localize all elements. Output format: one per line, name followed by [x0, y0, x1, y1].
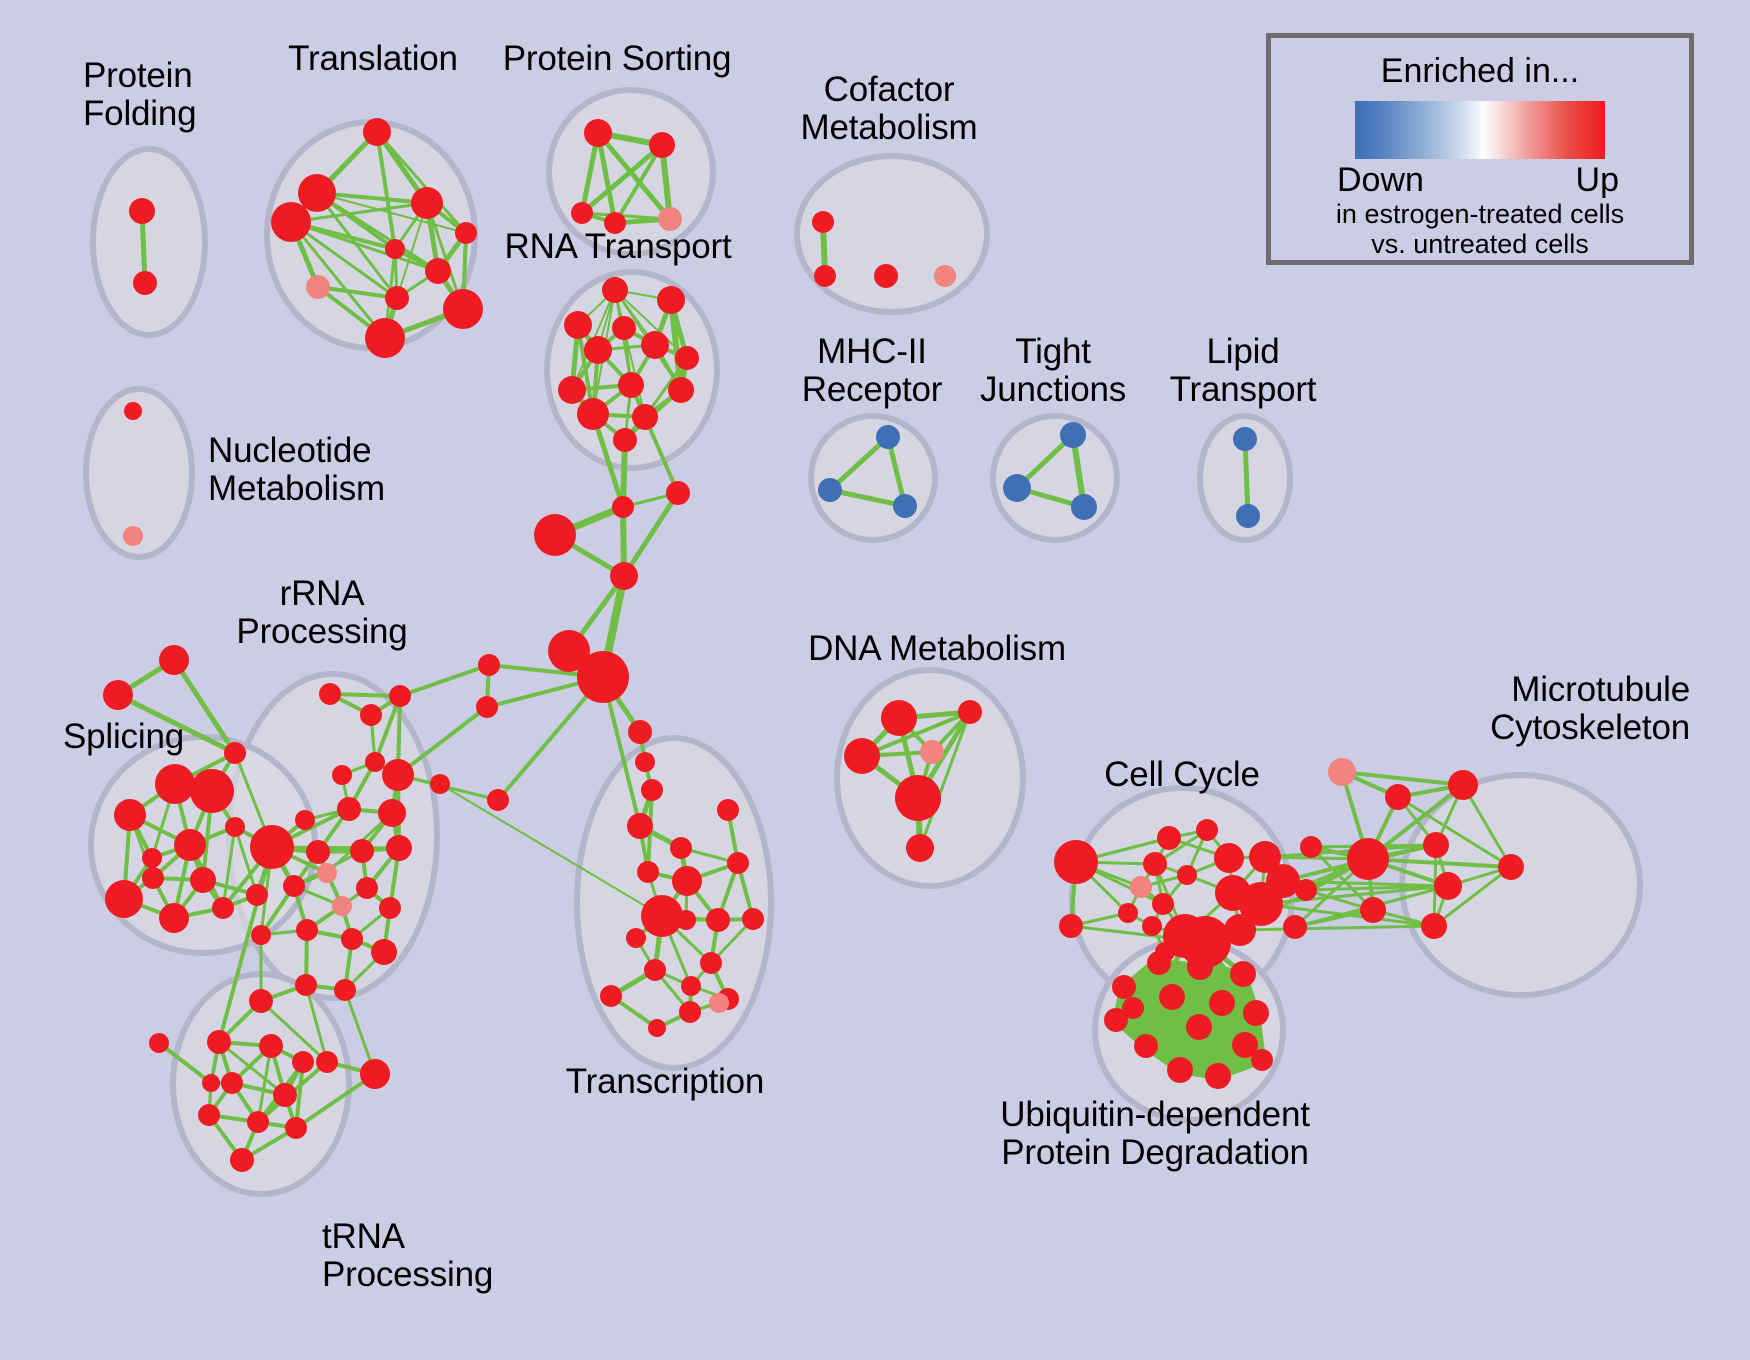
network-node[interactable] [584, 336, 612, 364]
network-node[interactable] [103, 680, 133, 710]
network-node[interactable] [675, 346, 699, 370]
network-node[interactable] [365, 318, 405, 358]
legend-down-label: Down [1337, 161, 1424, 200]
network-node[interactable] [874, 264, 898, 288]
cluster-label-line: Transcription [566, 1063, 764, 1101]
network-node[interactable] [602, 277, 628, 303]
cluster-label-line: Microtubule [1490, 671, 1690, 709]
network-node[interactable] [727, 852, 749, 874]
network-node[interactable] [641, 779, 663, 801]
network-node[interactable] [1243, 1000, 1269, 1026]
network-node[interactable] [259, 1034, 283, 1058]
network-node[interactable] [271, 202, 311, 242]
network-node[interactable] [934, 265, 956, 287]
network-node[interactable] [332, 765, 352, 785]
cluster-label-mhc-ii-receptor: MHC-IIReceptor [802, 333, 942, 409]
network-node[interactable] [224, 742, 246, 764]
network-node[interactable] [371, 939, 397, 965]
network-node[interactable] [649, 132, 675, 158]
network-node[interactable] [296, 919, 318, 941]
network-node[interactable] [1251, 1049, 1273, 1071]
cluster-label-line: Protein Degradation [1000, 1134, 1310, 1172]
enrichment-map-figure: ProteinFoldingTranslationProtein Sorting… [0, 0, 1750, 1360]
network-node[interactable] [1209, 990, 1235, 1016]
network-node[interactable] [1054, 840, 1098, 884]
cluster-label-line: Splicing [63, 718, 184, 756]
network-node[interactable] [124, 402, 142, 420]
cluster-label-dna-metabolism: DNA Metabolism [808, 630, 1066, 668]
network-node[interactable] [1071, 494, 1097, 520]
network-node[interactable] [670, 837, 692, 859]
network-node[interactable] [628, 720, 652, 744]
network-node[interactable] [893, 494, 917, 518]
network-node[interactable] [1112, 975, 1136, 999]
network-node[interactable] [334, 979, 356, 1001]
network-node[interactable] [1143, 852, 1167, 876]
network-node[interactable] [142, 867, 164, 889]
network-node[interactable] [212, 897, 234, 919]
network-node[interactable] [1130, 876, 1152, 898]
network-node[interactable] [1134, 1034, 1158, 1058]
network-node[interactable] [1434, 872, 1462, 900]
network-node[interactable] [350, 839, 374, 863]
network-node[interactable] [149, 1033, 169, 1053]
network-node[interactable] [558, 376, 586, 404]
network-node[interactable] [1421, 913, 1447, 939]
network-node[interactable] [612, 496, 634, 518]
network-node[interactable] [1187, 954, 1213, 980]
cluster-label-line: Ubiquitin-dependent [1000, 1096, 1310, 1134]
network-node[interactable] [564, 311, 592, 339]
network-node[interactable] [1152, 893, 1174, 915]
network-node[interactable] [612, 316, 636, 340]
network-node[interactable] [123, 526, 143, 546]
network-node[interactable] [717, 799, 739, 821]
network-node[interactable] [1159, 984, 1185, 1010]
cluster-label-microtubule-cytoskeleton: MicrotubuleCytoskeleton [1490, 671, 1690, 747]
cluster-label-cofactor-metabolism: CofactorMetabolism [801, 71, 978, 147]
network-node[interactable] [584, 119, 612, 147]
cluster-label-nucleotide-metabolism: NucleotideMetabolism [208, 432, 385, 508]
network-node[interactable] [425, 258, 451, 284]
network-node[interactable] [1230, 961, 1256, 987]
network-node[interactable] [577, 651, 629, 703]
network-node[interactable] [316, 1051, 338, 1073]
network-node[interactable] [958, 700, 982, 724]
network-node[interactable] [1236, 504, 1260, 528]
network-node[interactable] [706, 908, 730, 932]
cluster-label-line: RNA Transport [505, 228, 732, 266]
cluster-label-trna-processing: tRNAProcessing [322, 1218, 493, 1294]
cluster-label-line: Metabolism [801, 109, 978, 147]
network-node[interactable] [142, 848, 162, 868]
network-node[interactable] [198, 1104, 220, 1126]
network-node[interactable] [814, 265, 836, 287]
cluster-label-cell-cycle: Cell Cycle [1104, 756, 1260, 794]
network-node[interactable] [700, 952, 722, 974]
network-node[interactable] [133, 271, 157, 295]
network-node[interactable] [221, 1072, 243, 1094]
network-node[interactable] [920, 740, 944, 764]
network-node[interactable] [1060, 422, 1086, 448]
network-node[interactable] [247, 1111, 269, 1133]
network-node[interactable] [644, 959, 666, 981]
network-node[interactable] [159, 903, 189, 933]
cluster-label-tight-junctions: TightJunctions [980, 333, 1126, 409]
network-node[interactable] [1059, 914, 1083, 938]
network-node[interactable] [455, 222, 477, 244]
network-node[interactable] [249, 989, 273, 1013]
network-node[interactable] [411, 187, 443, 219]
network-node[interactable] [844, 738, 880, 774]
network-node[interactable] [443, 289, 483, 329]
network-node[interactable] [386, 835, 412, 861]
network-node[interactable] [613, 428, 637, 452]
legend-endpoint-labels: Down Up [1335, 161, 1625, 199]
cluster-label-lipid-transport: LipidTransport [1170, 333, 1317, 409]
cluster-label-line: Tight [980, 333, 1126, 371]
network-node[interactable] [679, 1001, 701, 1023]
network-node[interactable] [635, 752, 655, 772]
network-node[interactable] [114, 799, 146, 831]
network-node[interactable] [385, 286, 409, 310]
network-node[interactable] [295, 810, 315, 830]
network-node[interactable] [378, 799, 406, 827]
network-node[interactable] [1122, 997, 1144, 1019]
network-node[interactable] [610, 562, 638, 590]
cluster-label-translation: Translation [288, 40, 458, 78]
network-node[interactable] [657, 286, 685, 314]
network-node[interactable] [190, 867, 216, 893]
network-node[interactable] [306, 840, 330, 864]
legend-subtitle-line-1: in estrogen-treated cells [1271, 199, 1689, 229]
cluster-label-line: DNA Metabolism [808, 630, 1066, 668]
network-node[interactable] [627, 813, 653, 839]
network-node[interactable] [155, 764, 195, 804]
network-node[interactable] [1300, 836, 1322, 858]
network-node[interactable] [202, 1074, 220, 1092]
network-node[interactable] [641, 895, 683, 937]
network-node[interactable] [818, 478, 842, 502]
network-node[interactable] [1147, 951, 1171, 975]
network-node[interactable] [283, 875, 305, 897]
network-node[interactable] [332, 896, 352, 916]
cluster-label-line: Transport [1170, 371, 1317, 409]
network-node[interactable] [337, 797, 361, 821]
network-node[interactable] [1205, 1063, 1231, 1089]
network-node[interactable] [881, 700, 917, 736]
network-node[interactable] [681, 976, 701, 996]
network-node[interactable] [906, 834, 934, 862]
network-node[interactable] [250, 825, 294, 869]
network-node[interactable] [666, 481, 690, 505]
cluster-label-line: MHC-II [802, 333, 942, 371]
network-node[interactable] [190, 769, 234, 813]
network-node[interactable] [600, 985, 622, 1007]
cluster-label-line: Processing [322, 1256, 493, 1294]
network-node[interactable] [672, 866, 702, 896]
network-node[interactable] [1385, 784, 1411, 810]
network-node[interactable] [389, 685, 411, 707]
network-node[interactable] [618, 372, 644, 398]
network-node[interactable] [1003, 474, 1031, 502]
network-node[interactable] [1360, 897, 1386, 923]
network-node[interactable] [159, 645, 189, 675]
network-node[interactable] [319, 683, 341, 705]
network-node[interactable] [317, 863, 337, 883]
network-node[interactable] [709, 993, 729, 1013]
network-node[interactable] [895, 775, 941, 821]
cluster-label-line: Nucleotide [208, 432, 385, 470]
network-node[interactable] [1142, 916, 1162, 936]
cluster-ellipse-mhc-ii-receptor [811, 416, 935, 540]
network-node[interactable] [742, 908, 764, 930]
cluster-label-line: tRNA [322, 1218, 493, 1256]
network-node[interactable] [285, 1117, 307, 1139]
legend-panel: Enriched in... Down Up in estrogen-treat… [1266, 33, 1694, 265]
cluster-label-splicing: Splicing [63, 718, 184, 756]
cluster-label-rrna-processing: rRNAProcessing [236, 575, 407, 651]
network-node[interactable] [251, 925, 271, 945]
cluster-label-protein-sorting: Protein Sorting [503, 40, 732, 78]
network-node[interactable] [105, 880, 143, 918]
cluster-label-line: rRNA [236, 575, 407, 613]
network-node[interactable] [365, 752, 385, 772]
network-node[interactable] [174, 829, 206, 861]
network-node[interactable] [363, 118, 391, 146]
cluster-label-line: Cell Cycle [1104, 756, 1260, 794]
legend-up-label: Up [1576, 161, 1619, 200]
cluster-label-line: Protein Sorting [503, 40, 732, 78]
network-node[interactable] [207, 1030, 231, 1054]
cluster-label-line: Metabolism [208, 470, 385, 508]
network-node[interactable] [626, 928, 646, 948]
network-node[interactable] [306, 275, 330, 299]
network-node[interactable] [382, 759, 414, 791]
network-node[interactable] [641, 331, 669, 359]
cluster-label-line: Lipid [1170, 333, 1317, 371]
network-node[interactable] [1233, 427, 1257, 451]
network-node[interactable] [298, 174, 336, 212]
network-node[interactable] [876, 425, 900, 449]
network-node[interactable] [1186, 1014, 1212, 1040]
network-node[interactable] [246, 884, 268, 906]
network-node[interactable] [129, 198, 155, 224]
network-node[interactable] [341, 928, 363, 950]
network-node[interactable] [1118, 903, 1138, 923]
network-node[interactable] [1167, 1057, 1193, 1083]
network-node[interactable] [356, 877, 378, 899]
network-node[interactable] [273, 1083, 297, 1107]
cluster-label-transcription: Transcription [566, 1063, 764, 1101]
legend-color-gradient-bar [1355, 101, 1605, 159]
network-node[interactable] [1448, 770, 1478, 800]
network-node[interactable] [1295, 879, 1317, 901]
cluster-label-line: Processing [236, 613, 407, 651]
network-node[interactable] [577, 398, 609, 430]
cluster-label-line: Protein [83, 57, 196, 95]
bridge-edge [400, 665, 489, 696]
network-node[interactable] [1196, 819, 1218, 841]
network-node[interactable] [571, 202, 593, 224]
network-node[interactable] [1423, 832, 1449, 858]
cluster-label-line: Junctions [980, 371, 1126, 409]
network-node[interactable] [1214, 843, 1244, 873]
cluster-label-rna-transport: RNA Transport [505, 228, 732, 266]
legend-title: Enriched in... [1271, 52, 1689, 91]
network-node[interactable] [632, 404, 658, 430]
cluster-label-line: Translation [288, 40, 458, 78]
cluster-label-ubiquitin-dependent-protein-degradation: Ubiquitin-dependentProtein Degradation [1000, 1096, 1310, 1172]
network-node[interactable] [379, 897, 401, 919]
network-node[interactable] [487, 789, 509, 811]
network-node[interactable] [1328, 758, 1356, 786]
network-node[interactable] [476, 696, 498, 718]
network-node[interactable] [230, 1148, 254, 1172]
network-node[interactable] [668, 377, 694, 403]
network-node[interactable] [292, 1051, 314, 1073]
cluster-label-line: Folding [83, 95, 196, 133]
cluster-label-line: Cofactor [801, 71, 978, 109]
legend-subtitle-line-2: vs. untreated cells [1271, 229, 1689, 259]
network-node[interactable] [385, 239, 405, 259]
network-node[interactable] [295, 974, 317, 996]
network-node[interactable] [430, 774, 450, 794]
network-node[interactable] [360, 1059, 390, 1089]
network-node[interactable] [1498, 854, 1524, 880]
network-node[interactable] [648, 1019, 666, 1037]
network-node[interactable] [1177, 865, 1197, 885]
network-node[interactable] [1163, 914, 1207, 958]
cluster-label-line: Cytoskeleton [1490, 709, 1690, 747]
network-node[interactable] [225, 817, 245, 837]
network-node[interactable] [360, 704, 382, 726]
network-node[interactable] [1283, 915, 1307, 939]
cluster-label-protein-folding: ProteinFolding [83, 57, 196, 133]
network-node[interactable] [534, 514, 576, 556]
cluster-ellipse-protein-folding [93, 149, 205, 335]
network-node[interactable] [1347, 838, 1389, 880]
network-node[interactable] [1157, 826, 1181, 850]
network-node[interactable] [637, 861, 659, 883]
network-node[interactable] [812, 211, 834, 233]
cluster-label-line: Receptor [802, 371, 942, 409]
network-node[interactable] [478, 654, 500, 676]
